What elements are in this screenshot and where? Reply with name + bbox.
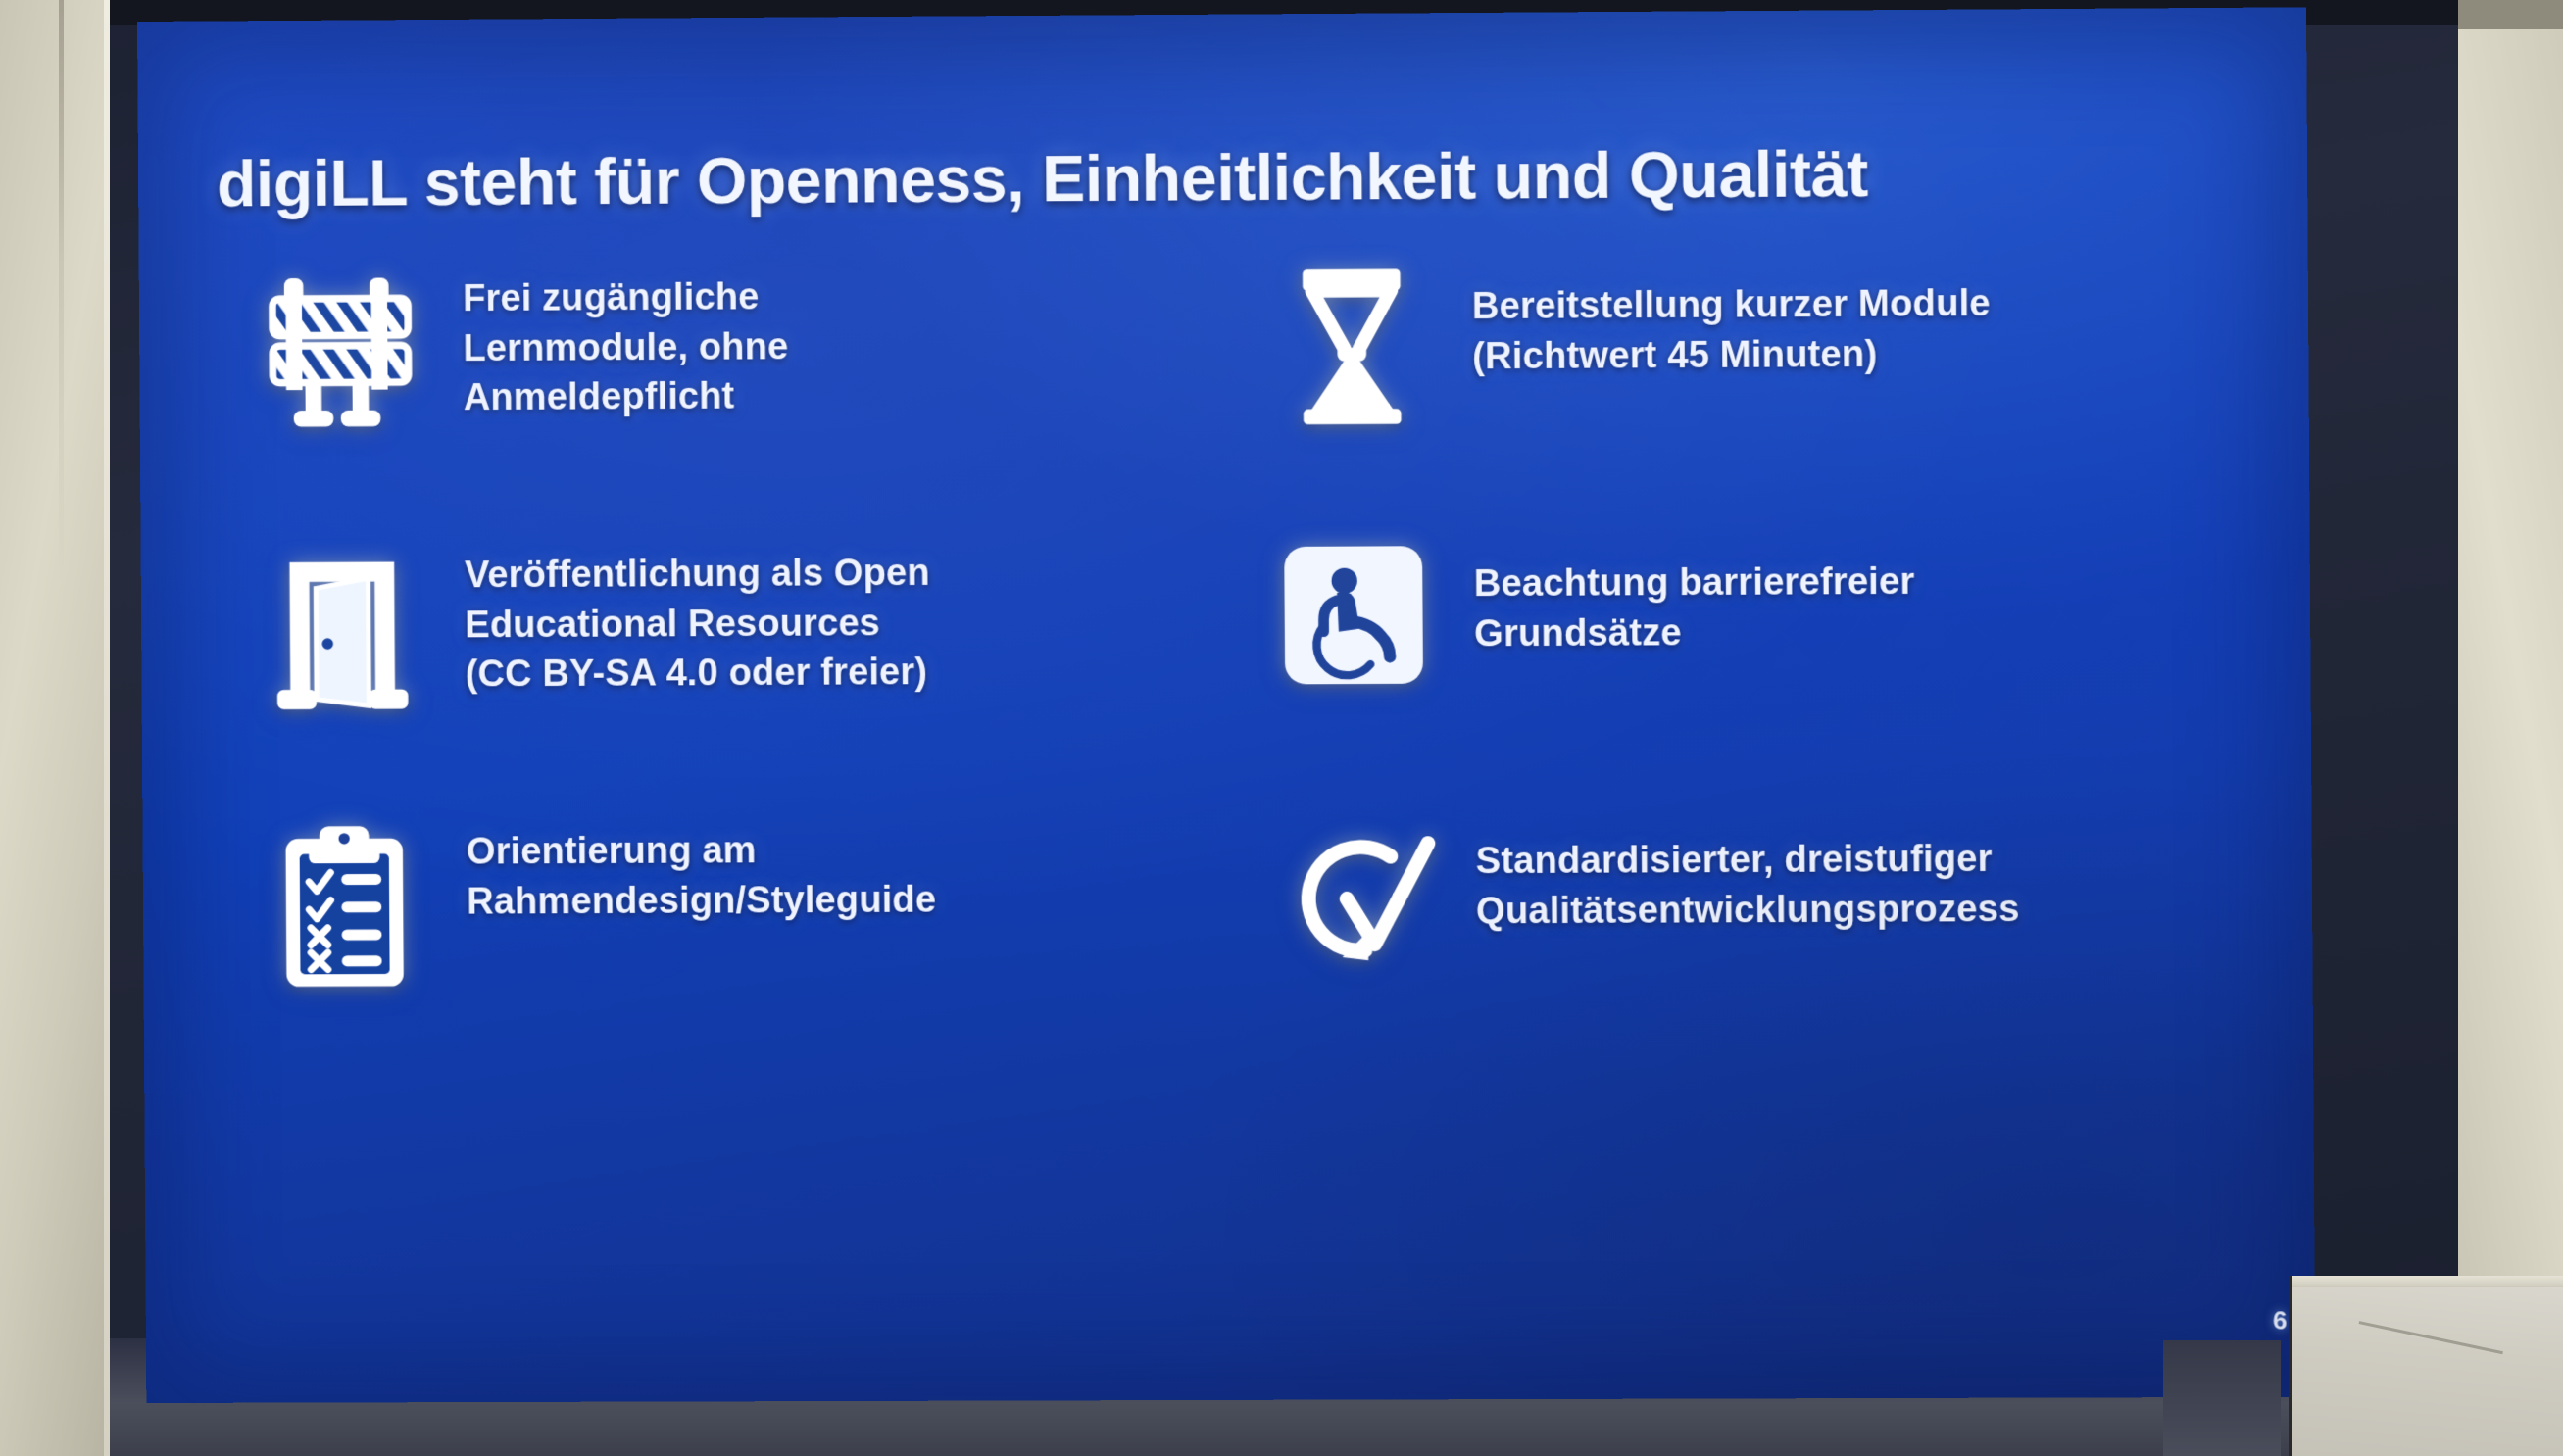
feature-text: Frei zugängliche Lernmodule, ohne Anmeld… <box>463 261 789 423</box>
flipchart-paper-crease <box>2346 1321 2503 1412</box>
open-door-icon <box>220 539 466 712</box>
wall-right <box>2457 0 2563 1456</box>
wall-seam <box>59 0 64 1456</box>
feature-line: (Richtwert 45 Minuten) <box>1472 329 1991 382</box>
quality-cycle-check-icon <box>1234 811 1477 981</box>
wheelchair-accessibility-icon <box>1232 534 1475 691</box>
feature-line: Qualitätsentwicklungsprozess <box>1476 884 2020 936</box>
clipboard-checklist-icon <box>221 816 467 995</box>
barricade-icon <box>218 263 464 432</box>
feature-text: Beachtung barrierefreier Grundsätze <box>1473 532 1915 659</box>
feature-line: Veröffentlichung als Open <box>465 549 930 601</box>
feature-line: (CC BY-SA 4.0 oder freier) <box>466 648 931 700</box>
feature-text: Bereitstellung kurzer Module (Richtwert … <box>1472 254 1992 382</box>
feature-line: Orientierung am <box>467 825 936 877</box>
room-dark-corner <box>2163 1340 2281 1456</box>
flipchart <box>2281 1250 2563 1456</box>
feature-text: Standardisierter, dreistufiger Qualitäts… <box>1475 808 2019 936</box>
feature-beachtung-barrierefreier-grundsaetze: Beachtung barrierefreier Grundsätze <box>1232 530 2243 812</box>
feature-line: Lernmodule, ohne <box>463 322 788 373</box>
projection-screen: digiLL steht für Openness, Einheitlichke… <box>137 7 2315 1403</box>
feature-orientierung-am-rahmendesign: Orientierung am Rahmendesign/Styleguide <box>221 812 1235 1093</box>
feature-frei-zugaengliche-lernmodule: Frei zugängliche Lernmodule, ohne Anmeld… <box>218 258 1232 540</box>
slide-content: digiLL steht für Openness, Einheitlichke… <box>137 7 2315 1403</box>
feature-line: Rahmendesign/Styleguide <box>467 875 936 927</box>
photo-of-projected-slide: digiLL steht für Openness, Einheitlichke… <box>0 0 2563 1456</box>
flipchart-board <box>2289 1287 2563 1456</box>
feature-bereitstellung-kurzer-module: Bereitstellung kurzer Module (Richtwert … <box>1230 252 2241 535</box>
feature-line: Grundsätze <box>1474 607 1915 658</box>
feature-text: Orientierung am Rahmendesign/Styleguide <box>467 813 937 926</box>
feature-line: Standardisierter, dreistufiger <box>1475 835 2019 887</box>
feature-text: Veröffentlichung als Open Educational Re… <box>465 537 931 700</box>
feature-veroeffentlichung-als-oer: Veröffentlichung als Open Educational Re… <box>220 535 1234 816</box>
slide-title: digiLL steht für Openness, Einheitlichke… <box>217 134 2189 221</box>
feature-grid: Frei zugängliche Lernmodule, ohne Anmeld… <box>218 252 2245 1303</box>
wall-left <box>0 0 104 1456</box>
feature-line: Educational Resources <box>465 598 930 650</box>
feature-line: Bereitstellung kurzer Module <box>1472 279 1991 332</box>
feature-qualitaetsentwicklungsprozess: Standardisierter, dreistufiger Qualitäts… <box>1234 807 2244 1089</box>
wall-top-shadow <box>2457 0 2563 29</box>
feature-line: Beachtung barrierefreier <box>1474 558 1915 609</box>
hourglass-icon <box>1230 257 1473 431</box>
feature-line: Frei zugängliche <box>463 272 788 324</box>
feature-line: Anmeldepflicht <box>464 371 789 422</box>
